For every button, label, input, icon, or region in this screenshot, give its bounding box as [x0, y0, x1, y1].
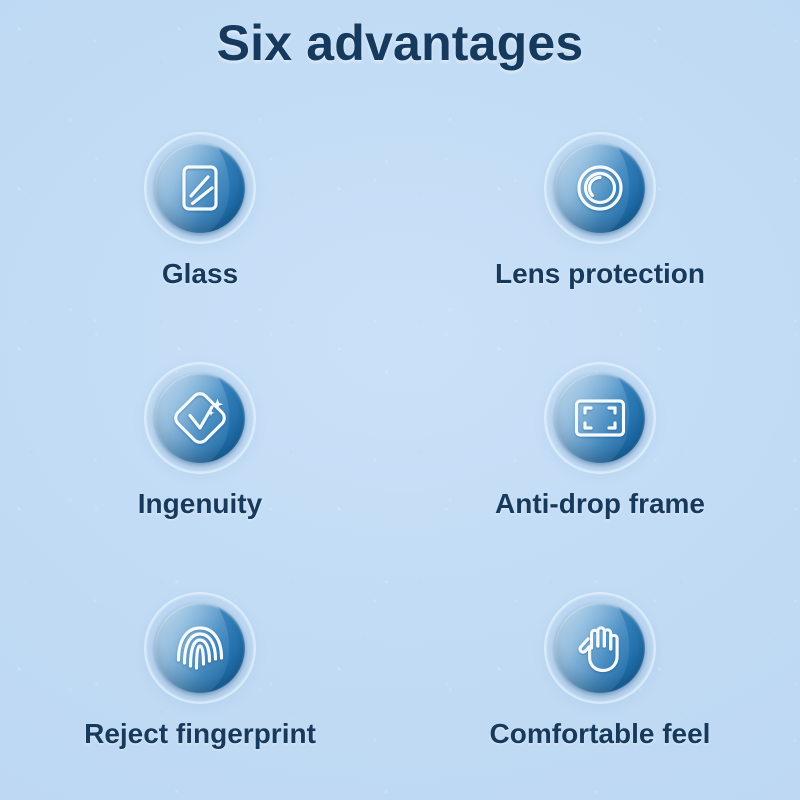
feature-badge[interactable] [144, 132, 256, 244]
feature-label: Ingenuity [138, 488, 262, 520]
feature-label: Glass [162, 258, 238, 290]
badge-disc [555, 373, 645, 463]
feature-item-glass[interactable]: Glass [0, 110, 400, 340]
feature-item-lens-protection[interactable]: Lens protection [400, 110, 800, 340]
feature-badge[interactable] [544, 592, 656, 704]
page-title: Six advantages [0, 14, 800, 72]
diamond-check-icon [170, 388, 230, 448]
badge-disc [555, 603, 645, 693]
camera-lens-icon [570, 158, 630, 218]
feature-item-anti-drop-frame[interactable]: Anti-drop frame [400, 340, 800, 570]
fingerprint-icon [170, 618, 230, 678]
badge-disc [155, 603, 245, 693]
feature-label: Anti-drop frame [495, 488, 705, 520]
feature-badge[interactable] [544, 362, 656, 474]
feature-badge[interactable] [144, 362, 256, 474]
feature-label: Reject fingerprint [84, 718, 316, 750]
glass-sheet-icon [170, 158, 230, 218]
badge-disc [155, 143, 245, 233]
badge-disc [555, 143, 645, 233]
feature-badge[interactable] [144, 592, 256, 704]
feature-item-ingenuity[interactable]: Ingenuity [0, 340, 400, 570]
feature-label: Comfortable feel [490, 718, 711, 750]
feature-label: Lens protection [495, 258, 705, 290]
open-hand-icon [570, 618, 630, 678]
corner-frame-icon [570, 388, 630, 448]
badge-disc [155, 373, 245, 463]
features-grid: Glass Lens protection [0, 110, 800, 800]
six-advantages-poster: Six advantages Glass [0, 0, 800, 800]
feature-badge[interactable] [544, 132, 656, 244]
feature-item-comfortable-feel[interactable]: Comfortable feel [400, 570, 800, 800]
feature-item-reject-fingerprint[interactable]: Reject fingerprint [0, 570, 400, 800]
